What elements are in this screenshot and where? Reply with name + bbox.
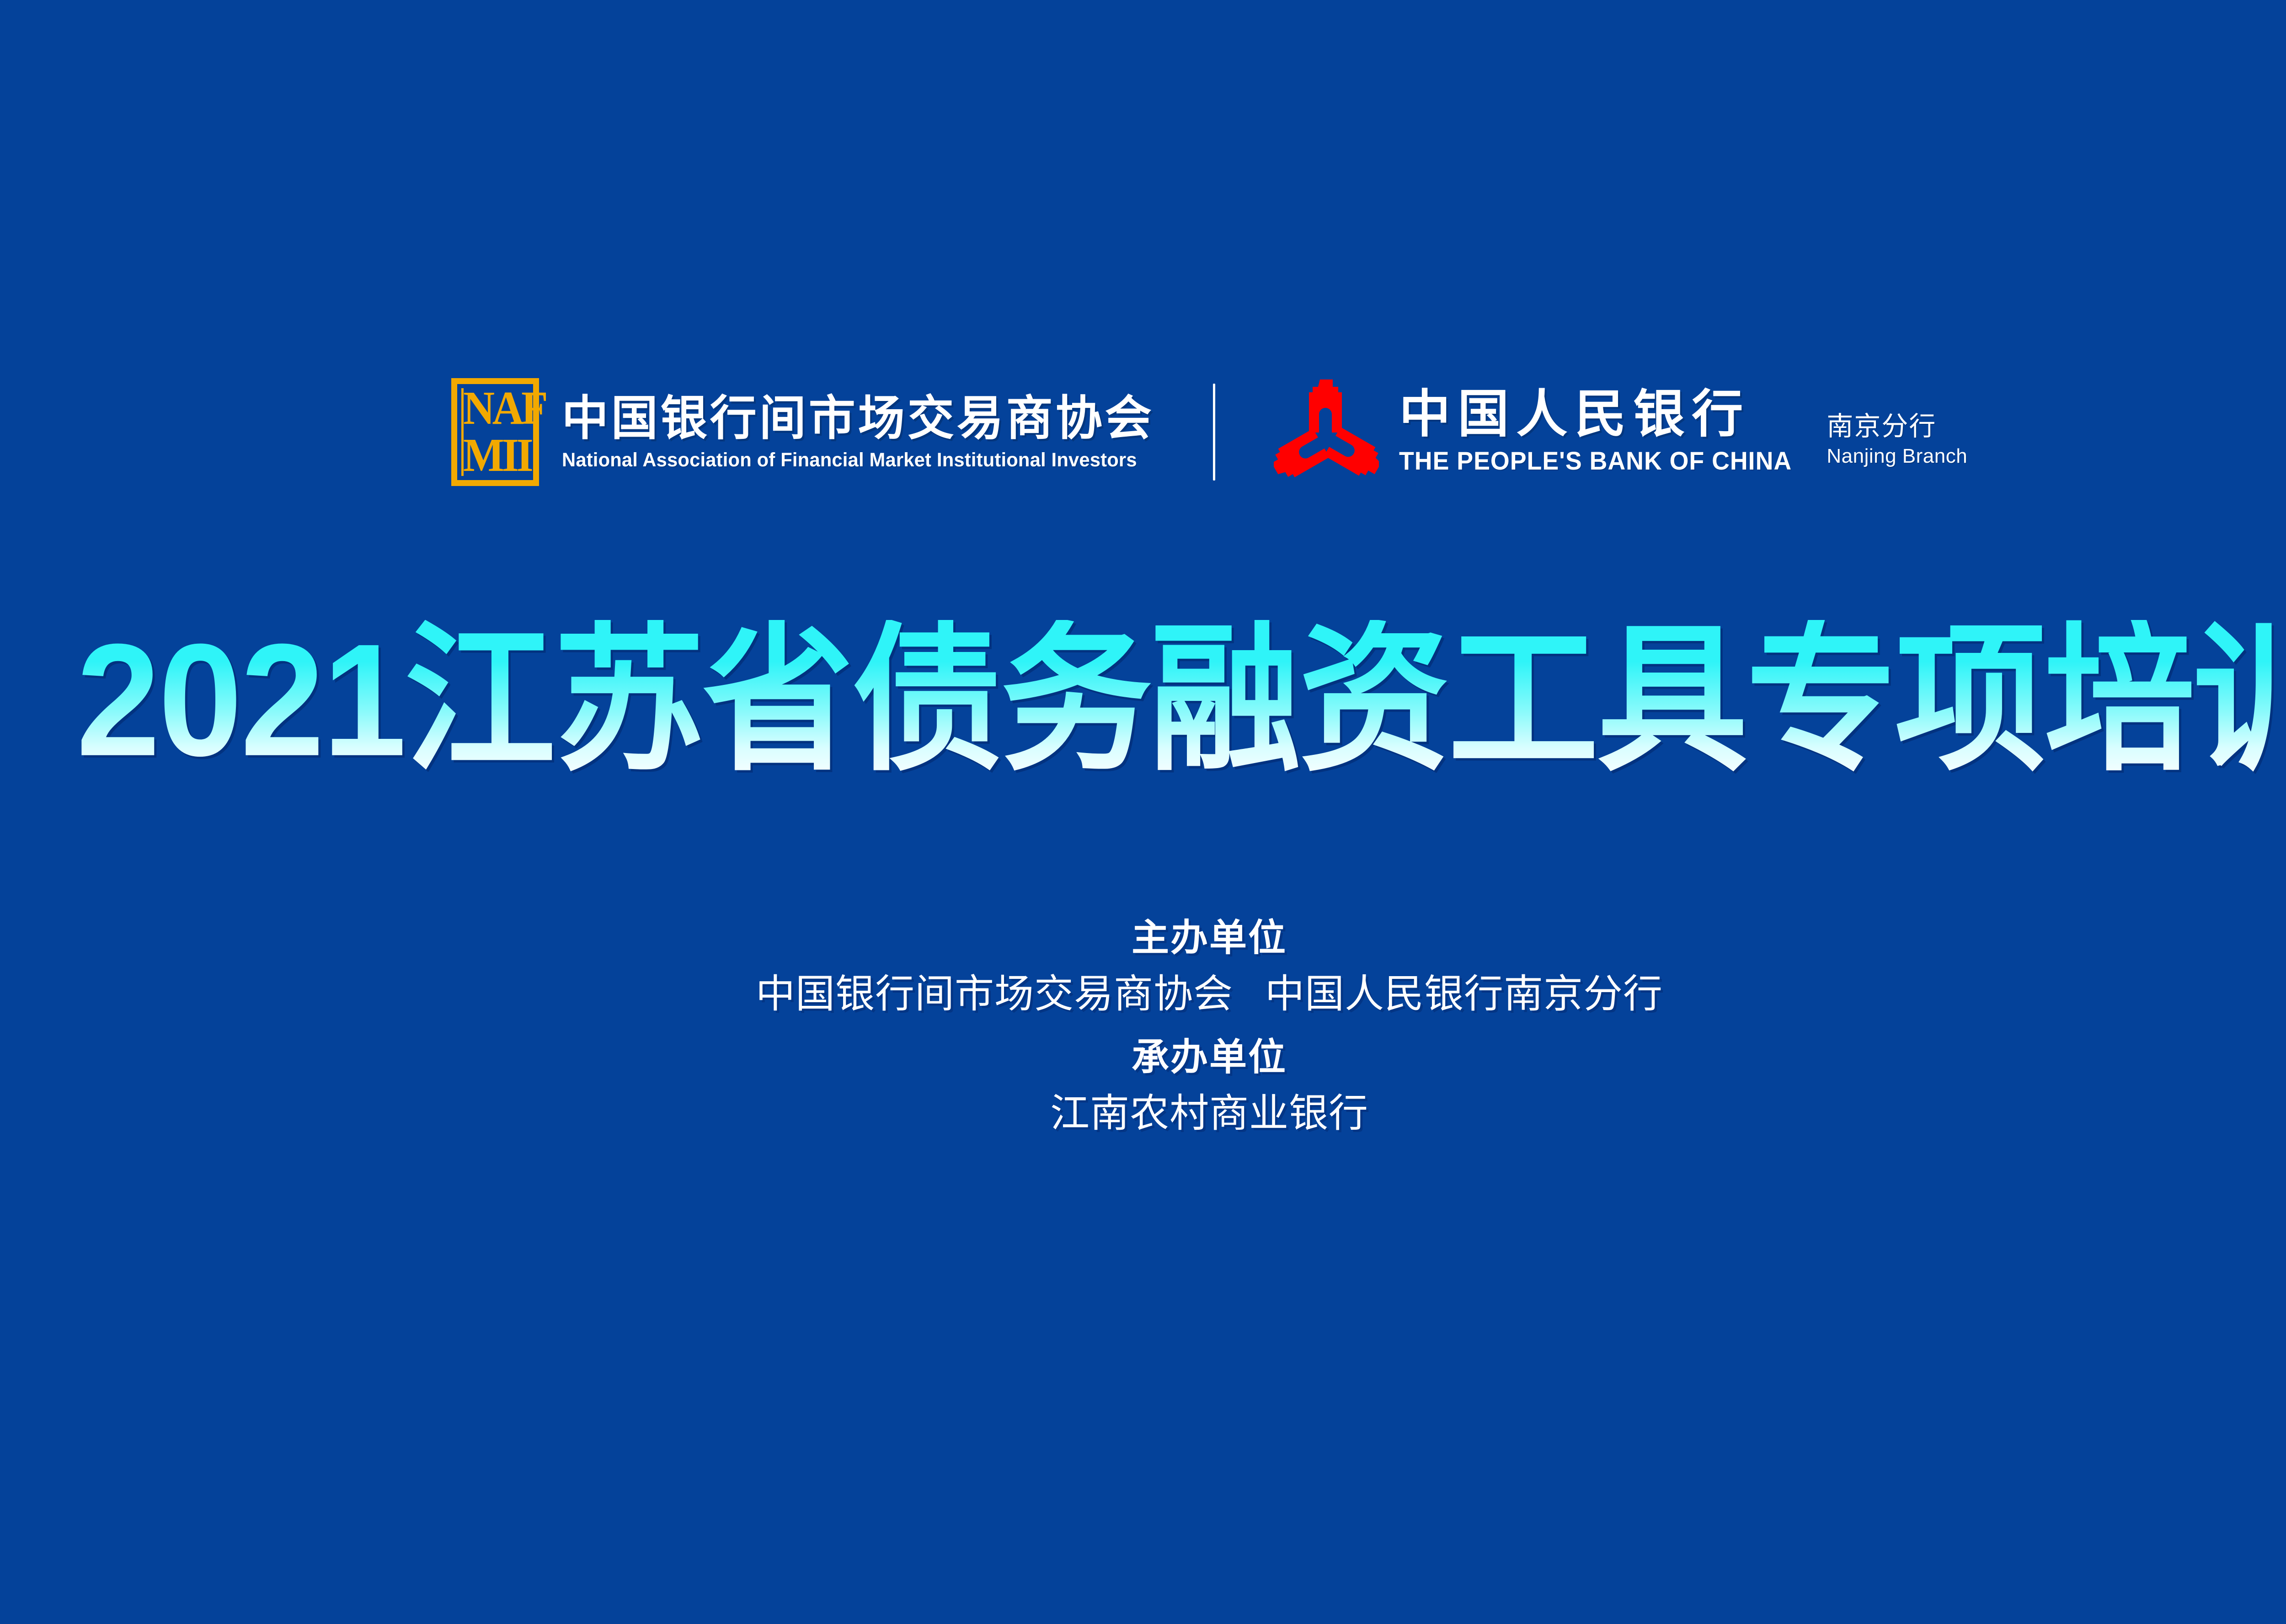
nafmii-name-cn: 中国银行间市场交易商协会: [562, 393, 1155, 444]
nafmii-logo-group: NAFMII 中国银行间市场交易商协会 National Association…: [451, 378, 1155, 486]
pboc-name-en: THE PEOPLE'S BANK OF CHINA: [1399, 445, 1792, 476]
nafmii-text-block: 中国银行间市场交易商协会 National Association of Fin…: [562, 391, 1155, 473]
pboc-emblem-icon: [1274, 375, 1379, 489]
host-label: 主办单位: [0, 914, 2286, 962]
organizer-label: 承办单位: [0, 1034, 2286, 1082]
organizer-name: 江南农村商业银行: [0, 1088, 2286, 1139]
pboc-logo-group: 中国人民银行 THE PEOPLE'S BANK OF CHINA 南京分行 N…: [1274, 375, 1967, 489]
pboc-name-cn: 中国人民银行: [1399, 388, 1808, 442]
host-names-row: 中国银行间市场交易商协会中国人民银行南京分行: [0, 969, 2286, 1020]
logo-bar: NAFMII 中国银行间市场交易商协会 National Association…: [0, 357, 2286, 507]
logo-divider: [1213, 384, 1215, 481]
host-name-1: 中国银行间市场交易商协会: [756, 972, 1233, 1016]
pboc-branch-block: 南京分行 Nanjing Branch: [1827, 395, 1967, 469]
pboc-text-block: 中国人民银行 THE PEOPLE'S BANK OF CHINA: [1399, 388, 1808, 476]
host-name-2: 中国人民银行南京分行: [1265, 972, 1663, 1016]
nafmii-name-en: National Association of Financial Market…: [562, 448, 1137, 473]
nafmii-logo-letters: NAFMII: [463, 385, 533, 480]
page-title: 2021江苏省债务融资工具专项培训: [0, 620, 2286, 780]
nafmii-logo-icon: NAFMII: [451, 378, 539, 486]
pboc-branch-en: Nanjing Branch: [1827, 444, 1967, 469]
nafmii-letters-line2: MII: [463, 429, 531, 481]
nafmii-letters-line1: NAF: [463, 382, 545, 434]
organizer-section: 主办单位 中国银行间市场交易商协会中国人民银行南京分行 承办单位 江南农村商业银…: [0, 914, 2286, 1139]
pboc-branch-cn: 南京分行: [1827, 412, 1967, 442]
